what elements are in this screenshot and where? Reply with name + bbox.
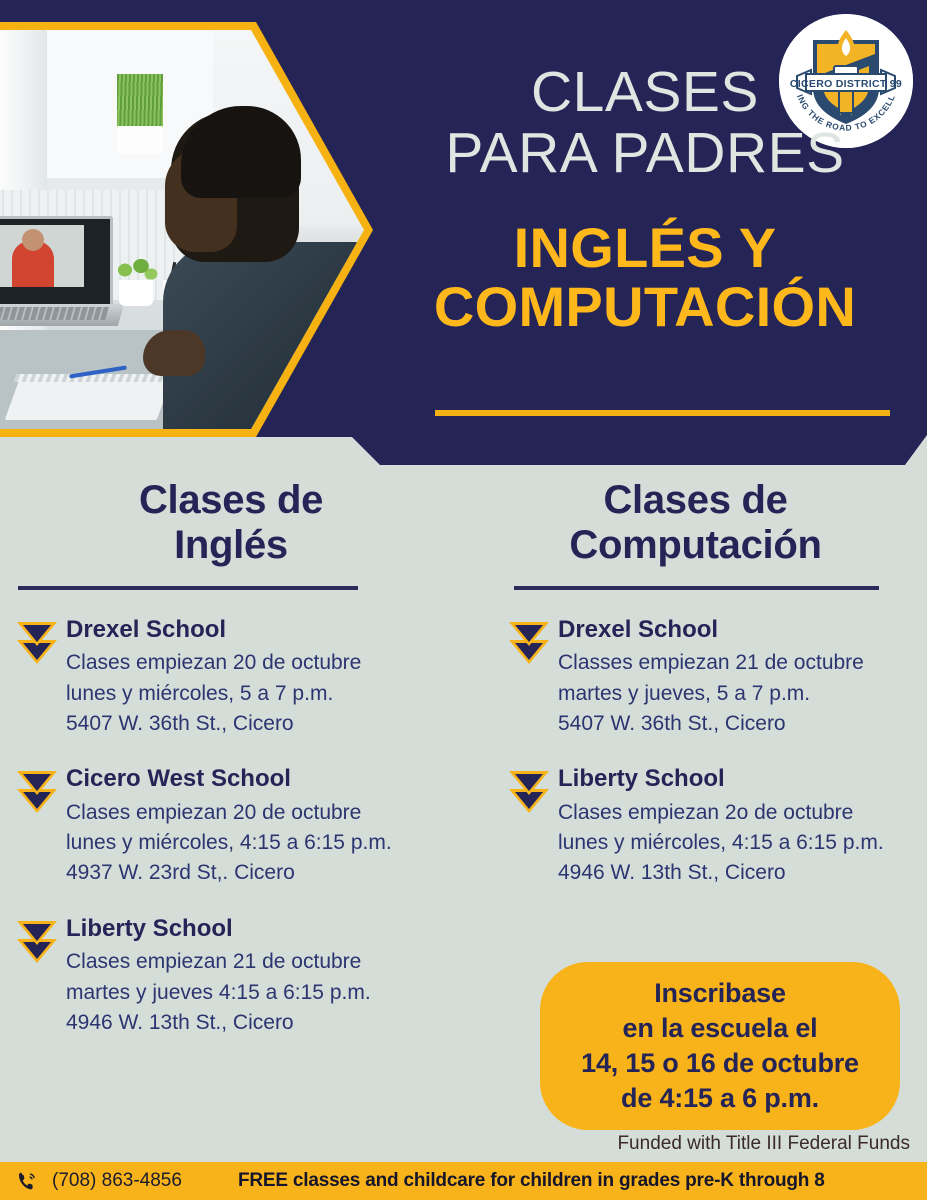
entry-body: Liberty School Clases empiezan 21 de oct… [60, 915, 470, 1039]
entry-line-address: 5407 W. 36th St., Cicero [558, 709, 927, 739]
photo-scene [0, 30, 365, 429]
entry-line-address: 4946 W. 13th St., Cicero [66, 1008, 470, 1038]
entry-line-start-date: Clases empiezan 20 de octubre [66, 798, 470, 828]
school-name: Liberty School [558, 765, 927, 794]
hero-photo [0, 22, 373, 437]
entry-line-schedule: martes y jueves 4:15 a 6:15 p.m. [66, 978, 470, 1008]
entry-line-start-date: Clases empiezan 21 de octubre [66, 947, 470, 977]
school-name: Drexel School [558, 616, 927, 645]
entry-line-schedule: lunes y miércoles, 4:15 a 6:15 p.m. [66, 828, 470, 858]
title-underline-rule [435, 410, 890, 416]
entry-body: Drexel School Classes empiezan 21 de oct… [552, 616, 927, 740]
column-heading-english: Clases de Inglés [0, 478, 470, 568]
footer-bar: (708) 863-4856 FREE classes and childcar… [0, 1162, 927, 1200]
entry-line-start-date: Clases empiezan 20 de octubre [66, 648, 470, 678]
phone-icon [16, 1170, 38, 1192]
page-subtitle: INGLÉS Y COMPUTACIÓN [395, 218, 895, 337]
list-item: Drexel School Classes empiezan 21 de oct… [470, 616, 927, 740]
entry-list-computer: Drexel School Classes empiezan 21 de oct… [470, 616, 927, 889]
double-chevron-down-icon [14, 620, 60, 668]
entry-body: Cicero West School Clases empiezan 20 de… [60, 765, 470, 889]
entry-line-start-date: Classes empiezan 21 de octubre [558, 648, 927, 678]
column-english: Clases de Inglés Drexel School Clases em… [0, 478, 470, 1064]
photo-clip [0, 30, 365, 429]
list-item: Drexel School Clases empiezan 20 de octu… [0, 616, 470, 740]
entry-list-english: Drexel School Clases empiezan 20 de octu… [0, 616, 470, 1039]
school-name: Liberty School [66, 915, 470, 944]
entry-line-address: 4946 W. 13th St., Cicero [558, 858, 927, 888]
entry-line-schedule: lunes y miércoles, 5 a 7 p.m. [66, 679, 470, 709]
double-chevron-down-icon [506, 769, 552, 817]
double-chevron-down-icon [14, 769, 60, 817]
footer-phone-number[interactable]: (708) 863-4856 [52, 1170, 182, 1192]
funding-note: Funded with Title III Federal Funds [470, 1133, 927, 1155]
school-name: Cicero West School [66, 765, 470, 794]
entry-line-start-date: Clases empiezan 2o de octubre [558, 798, 927, 828]
entry-body: Liberty School Clases empiezan 2o de oct… [552, 765, 927, 889]
flyer: CICERO DISTRICT 99 IGNITING THE ROAD TO … [0, 0, 927, 1200]
entry-body: Drexel School Clases empiezan 20 de octu… [60, 616, 470, 740]
column-divider [18, 586, 358, 590]
double-chevron-down-icon [506, 620, 552, 668]
entry-line-address: 4937 W. 23rd St,. Cicero [66, 858, 470, 888]
entry-line-address: 5407 W. 36th St., Cicero [66, 709, 470, 739]
column-divider [514, 586, 879, 590]
footer-note: FREE classes and childcare for children … [238, 1170, 825, 1192]
registration-callout: Inscribase en la escuela el 14, 15 o 16 … [540, 962, 900, 1130]
entry-line-schedule: lunes y miércoles, 4:15 a 6:15 p.m. [558, 828, 927, 858]
page-title: CLASES PARA PADRES [395, 62, 895, 184]
column-heading-computer: Clases de Computación [470, 478, 927, 568]
school-name: Drexel School [66, 616, 470, 645]
double-chevron-down-icon [14, 919, 60, 967]
entry-line-schedule: martes y jueves, 5 a 7 p.m. [558, 679, 927, 709]
list-item: Cicero West School Clases empiezan 20 de… [0, 765, 470, 889]
list-item: Liberty School Clases empiezan 2o de oct… [470, 765, 927, 889]
list-item: Liberty School Clases empiezan 21 de oct… [0, 915, 470, 1039]
header-titles: CLASES PARA PADRES INGLÉS Y COMPUTACIÓN [395, 62, 895, 337]
column-computer: Clases de Computación Drexel School Clas… [470, 478, 927, 915]
registration-callout-text: Inscribase en la escuela el 14, 15 o 16 … [581, 976, 859, 1116]
